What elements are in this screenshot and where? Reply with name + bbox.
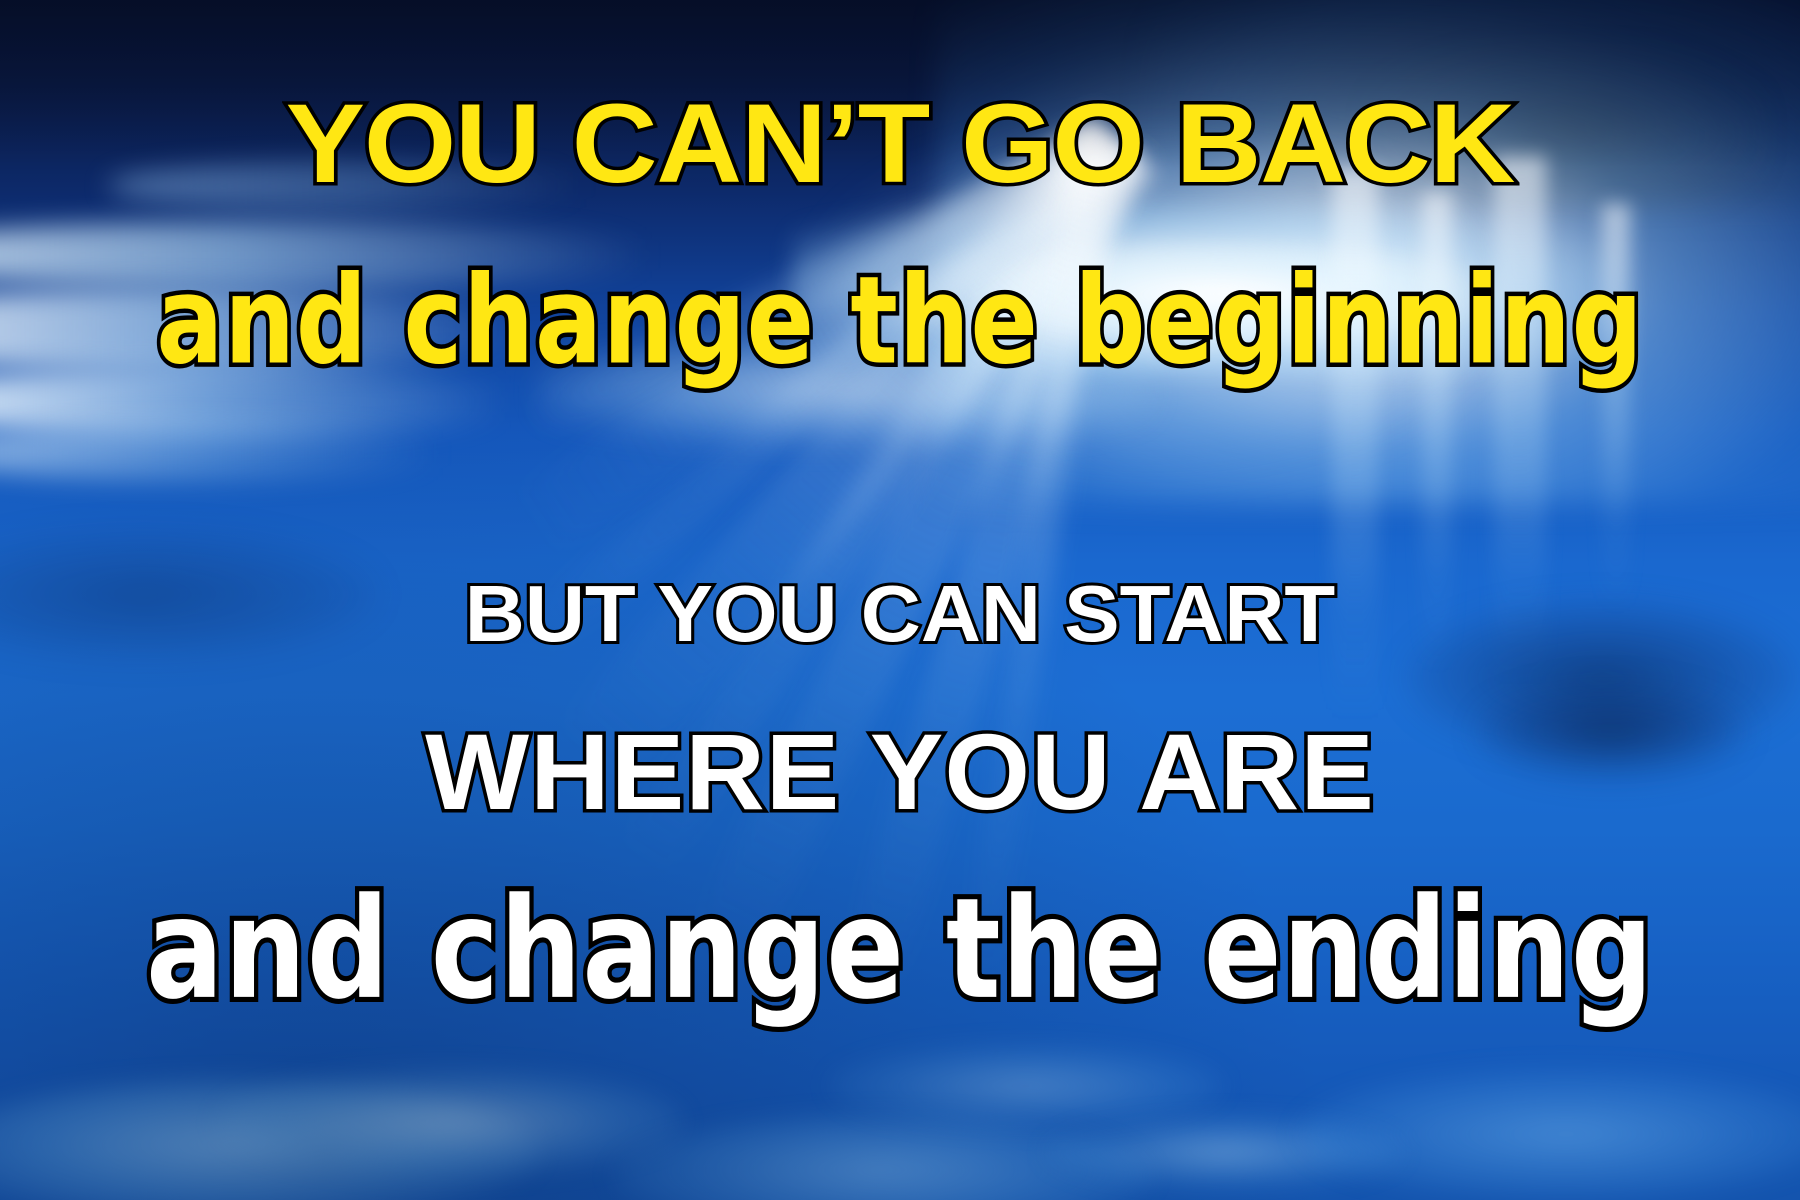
quote-text-stack: YOU CAN’T GO BACK and change the beginni… <box>0 0 1800 1200</box>
quote-line-3: BUT YOU CAN START <box>0 574 1800 654</box>
quote-line-1: YOU CAN’T GO BACK <box>0 88 1800 200</box>
quote-line-4: WHERE YOU ARE <box>0 718 1800 826</box>
quote-poster: YOU CAN’T GO BACK and change the beginni… <box>0 0 1800 1200</box>
quote-line-2: and change the beginning <box>72 262 1728 383</box>
quote-line-5: and change the ending <box>54 879 1746 1018</box>
